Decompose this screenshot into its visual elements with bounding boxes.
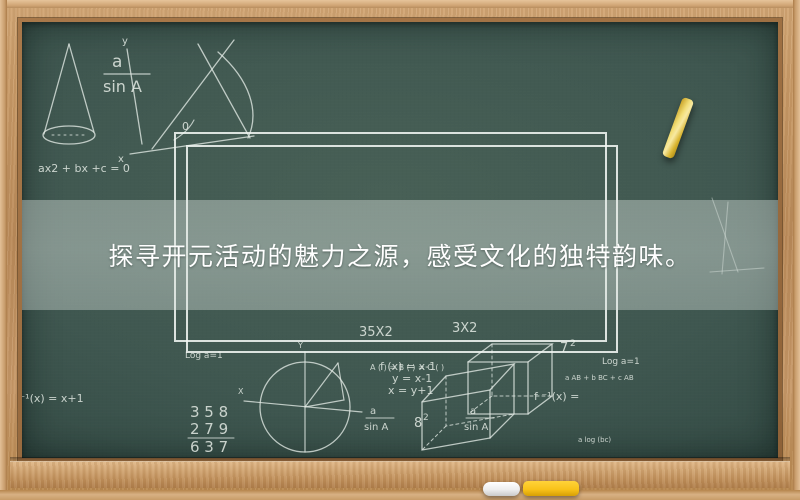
chalk-vector-expr: a AB + b BC + c AB xyxy=(565,374,634,382)
chalk-inverse-fn-2: f ⁻¹(x) = x+1 xyxy=(22,392,84,405)
chalk-ledge xyxy=(10,461,790,488)
headline-text: 探寻开元活动的魅力之源，感受文化的独特韵味。 xyxy=(22,208,778,302)
chalk-frac-sina-3: sin A xyxy=(464,422,489,433)
chalk-log-label-2: Log a=1 xyxy=(602,357,640,367)
chalk-quadratic: ax2 + bx +c = 0 xyxy=(38,162,130,175)
frame-left-highlight xyxy=(0,0,7,500)
chalk-axis-x-right: X xyxy=(238,387,244,396)
yellow-chalk-on-ledge xyxy=(523,481,579,496)
chalk-digits-row3: 6 3 7 xyxy=(190,438,228,456)
chalk-frac-a: a xyxy=(112,52,122,72)
chalk-matrix-expr: A ( ) = B ( ) = C ( ) xyxy=(370,363,444,372)
chalkboard-surface: a sin A ax2 + bx +c = 0 y x 0 f (x) = x-… xyxy=(22,22,778,458)
white-chalk-on-ledge xyxy=(483,482,520,496)
chalk-eight: 8 xyxy=(414,416,422,431)
frame-right-highlight xyxy=(793,0,800,500)
chalk-frac-a-3: a xyxy=(470,406,476,417)
chalk-eight-sup: 2 xyxy=(423,413,429,423)
chalk-axis-x-label: x xyxy=(118,154,124,165)
chalk-log-small: a log (bc) xyxy=(578,436,611,444)
chalk-frac-sina: sin A xyxy=(103,77,142,96)
chalk-frac-a-2: a xyxy=(370,406,376,417)
chalk-fx-line3: x = y+1 xyxy=(388,384,433,397)
chalk-digits-row2: 2 7 9 xyxy=(190,420,228,438)
chalkboard-banner: a sin A ax2 + bx +c = 0 y x 0 f (x) = x-… xyxy=(0,0,800,500)
chalk-circle-diagram: Y X xyxy=(238,341,362,452)
chalk-frac-sina-2: sin A xyxy=(364,422,389,433)
chalk-axis-y-label: y xyxy=(122,36,128,47)
chalk-inverse-fn: f ⁻¹(x) = xyxy=(534,390,579,403)
frame-bottom-highlight xyxy=(0,490,800,500)
frame-top-highlight xyxy=(0,0,800,8)
chalk-cube-center xyxy=(468,344,552,414)
chalk-digits-row1: 3 5 8 xyxy=(190,403,228,421)
